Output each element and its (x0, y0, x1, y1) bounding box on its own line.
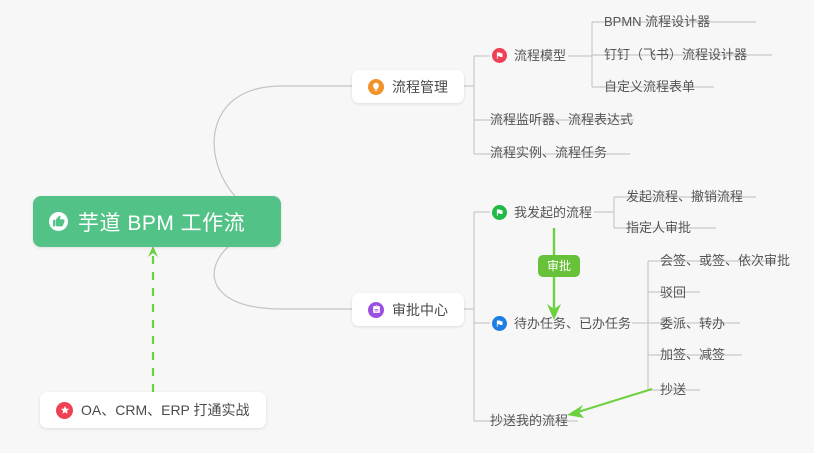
node-label-todo-done-tasks: 待办任务、已办任务 (514, 317, 631, 330)
node-todo-done-tasks[interactable]: 待办任务、已办任务 (492, 316, 631, 331)
node-delegate-transfer[interactable]: 委派、转办 (660, 317, 725, 330)
branch-card-process-management[interactable]: 流程管理 (352, 70, 464, 103)
approve-tag: 审批 (538, 255, 580, 277)
node-label-cc: 抄送 (660, 383, 686, 396)
node-label-cc-to-me: 抄送我的流程 (490, 414, 568, 427)
node-dingtalk-designer[interactable]: 钉钉（飞书）流程设计器 (604, 48, 747, 61)
node-my-initiated[interactable]: 我发起的流程 (492, 205, 592, 220)
root-label: 芋道 BPM 工作流 (78, 207, 245, 237)
node-label-my-initiated: 我发起的流程 (514, 206, 592, 219)
dashed-link-arrow (148, 246, 158, 392)
node-label-process-instance: 流程实例、流程任务 (490, 146, 607, 159)
flag-icon (492, 205, 507, 220)
thumbs-up-icon (49, 212, 68, 231)
node-add-remove-sign[interactable]: 加签、减签 (660, 348, 725, 361)
star-icon (56, 402, 73, 419)
node-label-custom-form: 自定义流程表单 (604, 80, 695, 93)
node-label-add-remove-sign: 加签、减签 (660, 348, 725, 361)
node-reject[interactable]: 驳回 (660, 286, 686, 299)
flag-icon (492, 316, 507, 331)
flag-icon (492, 48, 507, 63)
branch-label-approval-center: 审批中心 (392, 300, 448, 320)
node-label-process-listener: 流程监听器、流程表达式 (490, 113, 633, 126)
node-process-instance[interactable]: 流程实例、流程任务 (490, 146, 607, 159)
node-custom-form[interactable]: 自定义流程表单 (604, 80, 695, 93)
mindmap-canvas: 芋道 BPM 工作流 流程管理 流程模型 BPMN 流程设计器 钉钉（飞书）流程… (0, 0, 814, 453)
root-node[interactable]: 芋道 BPM 工作流 (33, 196, 281, 247)
node-label-reject: 驳回 (660, 286, 686, 299)
clipboard-icon (368, 302, 384, 318)
node-label-delegate-transfer: 委派、转办 (660, 317, 725, 330)
node-bpmn-designer[interactable]: BPMN 流程设计器 (604, 15, 710, 28)
node-label-dingtalk-designer: 钉钉（飞书）流程设计器 (604, 48, 747, 61)
node-cc-to-me[interactable]: 抄送我的流程 (490, 414, 568, 427)
node-label-multi-approval: 会签、或签、依次审批 (660, 254, 790, 267)
node-label-assignee-approval: 指定人审批 (626, 221, 691, 234)
branch-label-process-management: 流程管理 (392, 77, 448, 97)
node-label-start-cancel-process: 发起流程、撤销流程 (626, 190, 743, 203)
copy-arrow (567, 389, 652, 418)
node-assignee-approval[interactable]: 指定人审批 (626, 221, 691, 234)
node-process-listener[interactable]: 流程监听器、流程表达式 (490, 113, 633, 126)
node-process-model[interactable]: 流程模型 (492, 48, 566, 63)
node-label-process-model: 流程模型 (514, 49, 566, 62)
node-start-cancel-process[interactable]: 发起流程、撤销流程 (626, 190, 743, 203)
branch-card-approval-center[interactable]: 审批中心 (352, 293, 464, 326)
lightbulb-icon (368, 79, 384, 95)
integration-card-label: OA、CRM、ERP 打通实战 (81, 400, 250, 420)
integration-card[interactable]: OA、CRM、ERP 打通实战 (40, 392, 266, 428)
node-label-bpmn-designer: BPMN 流程设计器 (604, 15, 710, 28)
approve-tag-label: 审批 (547, 259, 571, 273)
node-cc[interactable]: 抄送 (660, 383, 686, 396)
node-multi-approval[interactable]: 会签、或签、依次审批 (660, 254, 790, 267)
